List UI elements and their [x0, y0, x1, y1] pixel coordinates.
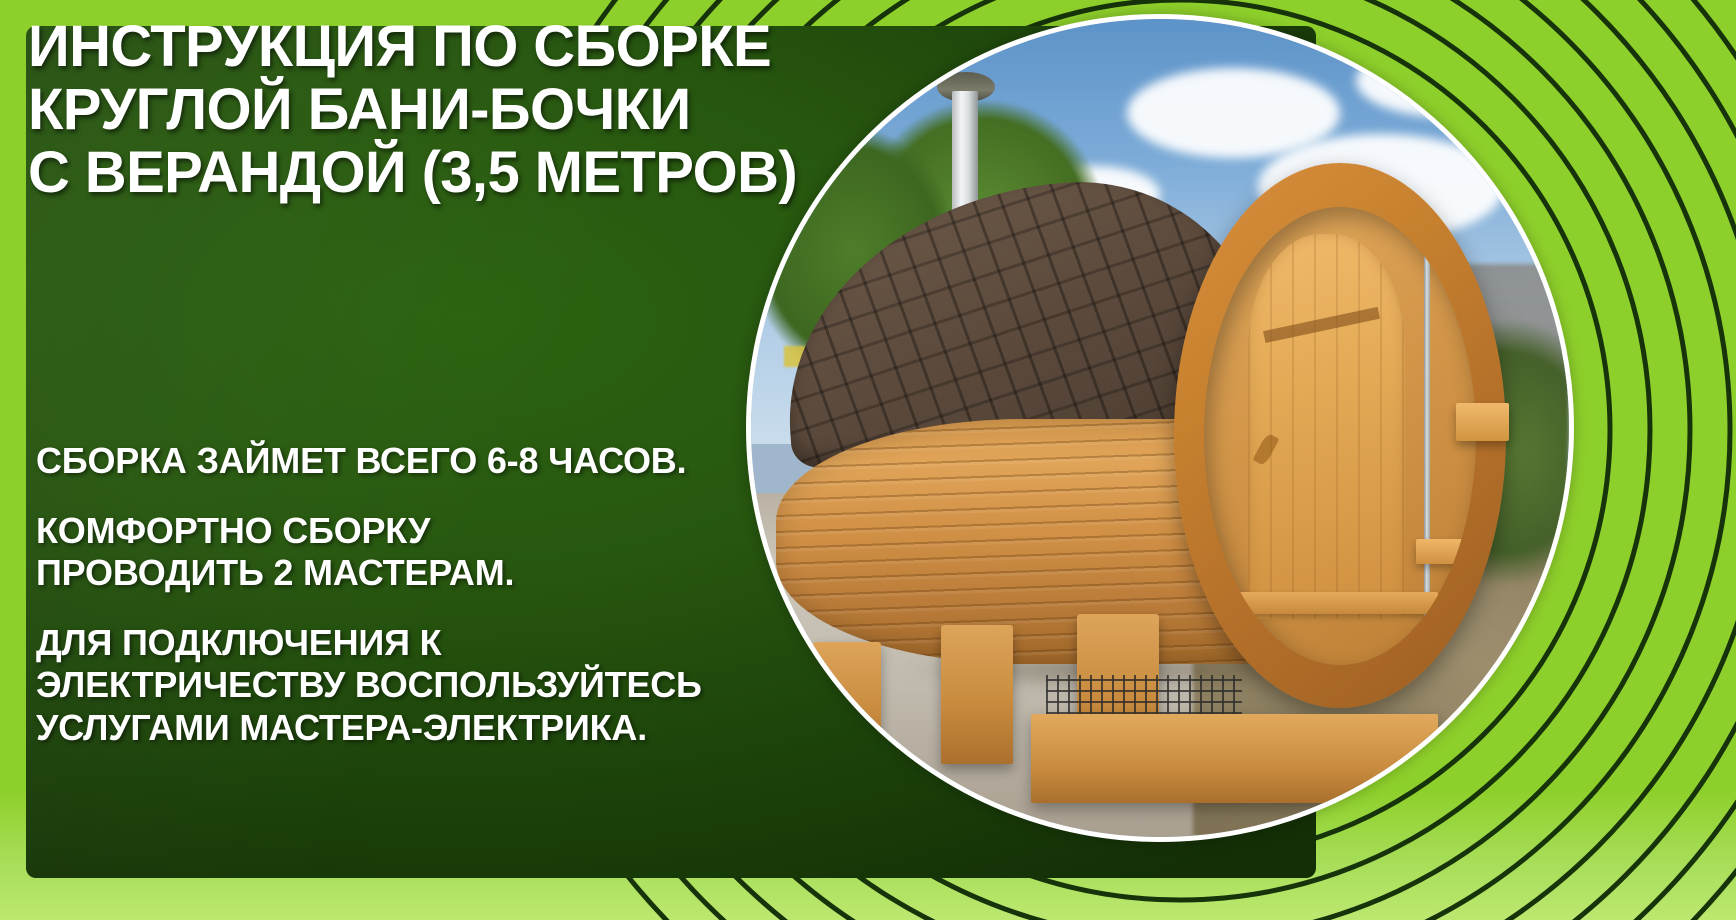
barrel-support	[941, 625, 1012, 764]
body-line: СБОРКА ЗАЙМЕТ ВСЕГО 6-8 ЧАСОВ.	[36, 440, 796, 482]
metal-post	[1424, 216, 1429, 637]
body-line: КОМФОРТНО СБОРКУ	[36, 510, 796, 552]
page-title: ИНСТРУКЦИЯ ПО СБОРКЕ КРУГЛОЙ БАНИ-БОЧКИ …	[28, 16, 828, 205]
body-line: УСЛУГАМИ МАСТЕРА-ЭЛЕКТРИКА.	[36, 707, 796, 749]
body-paragraph: СБОРКА ЗАЙМЕТ ВСЕГО 6-8 ЧАСОВ.	[36, 440, 796, 482]
veranda-bench	[1416, 539, 1476, 564]
veranda-deck	[1031, 714, 1437, 803]
product-photo	[751, 19, 1569, 837]
title-line: КРУГЛОЙ БАНИ-БОЧКИ	[28, 79, 828, 142]
body-paragraph: КОМФОРТНО СБОРКУ ПРОВОДИТЬ 2 МАСТЕРАМ.	[36, 510, 796, 594]
title-line: ИНСТРУКЦИЯ ПО СБОРКЕ	[28, 16, 828, 79]
body-line: ДЛЯ ПОДКЛЮЧЕНИЯ К	[36, 622, 796, 664]
veranda-bench	[1226, 592, 1438, 615]
metal-fence	[1046, 675, 1242, 714]
body-paragraph: ДЛЯ ПОДКЛЮЧЕНИЯ К ЭЛЕКТРИЧЕСТВУ ВОСПОЛЬЗ…	[36, 622, 796, 748]
door-handle	[1252, 433, 1279, 467]
product-photo-circle	[746, 14, 1574, 842]
veranda-round-frame	[1174, 163, 1505, 708]
barrel-support	[813, 642, 881, 764]
body-copy: СБОРКА ЗАЙМЕТ ВСЕГО 6-8 ЧАСОВ. КОМФОРТНО…	[36, 440, 796, 749]
cloud-shape	[1356, 44, 1536, 118]
door-brace	[1263, 307, 1379, 343]
title-line: С ВЕРАНДОЙ (3,5 МЕТРОВ)	[28, 142, 828, 205]
side-bench	[1456, 403, 1509, 441]
body-line: ПРОВОДИТЬ 2 МАСТЕРАМ.	[36, 552, 796, 594]
body-line: ЭЛЕКТРИЧЕСТВУ ВОСПОЛЬЗУЙТЕСЬ	[36, 664, 796, 706]
poster-root: ИНСТРУКЦИЯ ПО СБОРКЕ КРУГЛОЙ БАНИ-БОЧКИ …	[0, 0, 1736, 920]
sauna-door	[1248, 234, 1405, 619]
barrel-sauna	[776, 174, 1529, 730]
veranda-opening	[1204, 207, 1476, 665]
